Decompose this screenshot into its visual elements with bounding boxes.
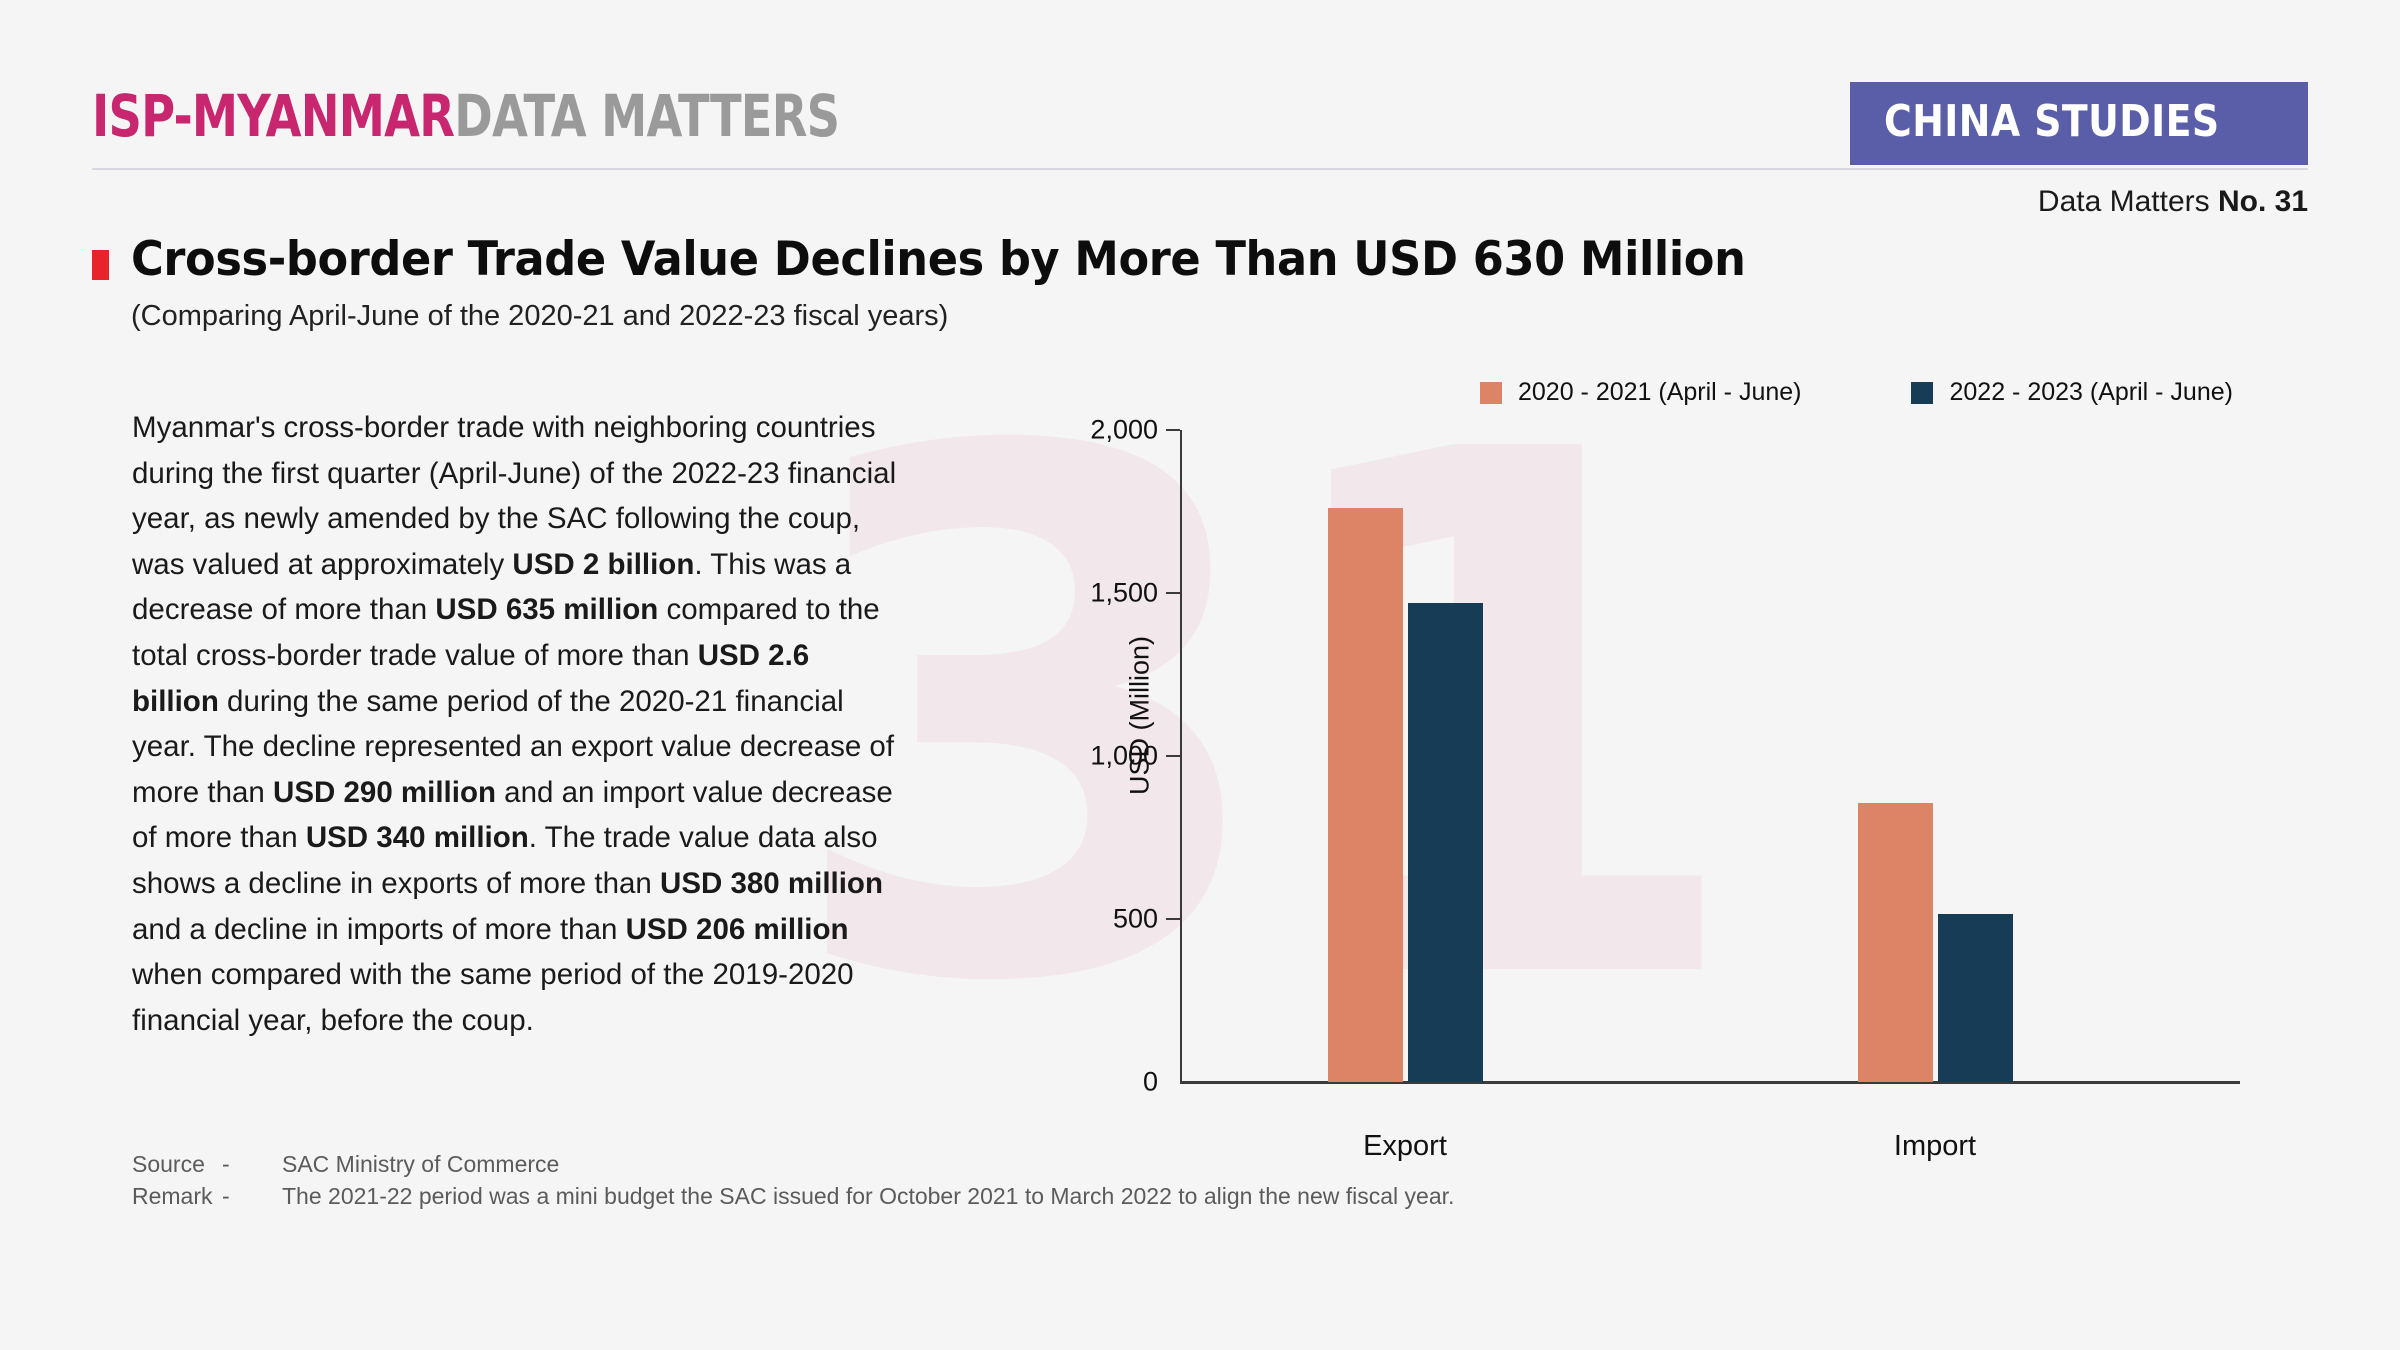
page-subtitle: (Comparing April-June of the 2020-21 and…	[131, 300, 948, 333]
y-axis-tick-label: 2,000	[1038, 415, 1158, 446]
source-key: Source	[132, 1148, 222, 1180]
header-divider	[92, 168, 2308, 170]
china-studies-badge-label: CHINA STUDIES	[1884, 96, 2220, 147]
plot-area: ExportImport	[1180, 430, 2240, 1082]
chart-legend: 2020 - 2021 (April - June)2022 - 2023 (A…	[1480, 378, 2233, 407]
x-axis-category-label: Import	[1815, 1130, 2055, 1163]
chart-bar[interactable]	[1938, 914, 2013, 1082]
legend-item[interactable]: 2022 - 2023 (April - June)	[1911, 378, 2232, 407]
y-axis-tick-label: 1,500	[1038, 578, 1158, 609]
logo-secondary-text: DATA MATTERS	[454, 82, 839, 150]
legend-label: 2020 - 2021 (April - June)	[1518, 378, 1801, 407]
legend-swatch-icon	[1911, 382, 1933, 404]
y-axis-tick-mark	[1166, 592, 1180, 594]
remark-dash: -	[222, 1180, 282, 1212]
y-axis-tick-label: 500	[1038, 904, 1158, 935]
remark-key: Remark	[132, 1180, 222, 1212]
chart-footnotes: Source - SAC Ministry of Commerce Remark…	[132, 1148, 1454, 1212]
issue-number: Data Matters No. 31	[2038, 185, 2308, 219]
page-header: ISP-MYANMARDATA MATTERS CHINA STUDIES Da…	[0, 0, 2400, 200]
chart-bar[interactable]	[1328, 508, 1403, 1082]
chart-bar[interactable]	[1858, 803, 1933, 1082]
source-dash: -	[222, 1148, 282, 1180]
bar-chart: USD (Million) 05001,0001,5002,000 2020 -…	[1040, 400, 2320, 1160]
chart-bar[interactable]	[1408, 603, 1483, 1082]
y-axis-tick-mark	[1166, 755, 1180, 757]
issue-value: No. 31	[2218, 185, 2308, 218]
y-axis-title: USD (Million)	[1125, 586, 1156, 846]
page-title: Cross-border Trade Value Declines by Mor…	[131, 232, 1745, 287]
y-axis-tick-mark	[1166, 918, 1180, 920]
isp-myanmar-logo: ISP-MYANMARDATA MATTERS	[92, 82, 839, 150]
y-axis-tick-label: 1,000	[1038, 741, 1158, 772]
page-title-row: Cross-border Trade Value Declines by Mor…	[92, 232, 1830, 287]
remark-value: The 2021-22 period was a mini budget the…	[282, 1180, 1454, 1212]
article-body-text: Myanmar's cross-border trade with neighb…	[132, 405, 902, 1043]
source-value: SAC Ministry of Commerce	[282, 1148, 559, 1180]
title-bullet-square-icon	[92, 250, 109, 280]
y-axis-line	[1180, 430, 1182, 1082]
legend-swatch-icon	[1480, 382, 1502, 404]
y-axis-tick-mark	[1166, 429, 1180, 431]
remark-row: Remark - The 2021-22 period was a mini b…	[132, 1180, 1454, 1212]
issue-prefix: Data Matters	[2038, 185, 2218, 218]
y-axis-tick-label: 0	[1038, 1067, 1158, 1098]
legend-label: 2022 - 2023 (April - June)	[1949, 378, 2232, 407]
logo-primary-text: ISP-MYANMAR	[92, 82, 454, 150]
source-row: Source - SAC Ministry of Commerce	[132, 1148, 1454, 1180]
china-studies-badge: CHINA STUDIES	[1850, 82, 2308, 165]
legend-item[interactable]: 2020 - 2021 (April - June)	[1480, 378, 1801, 407]
